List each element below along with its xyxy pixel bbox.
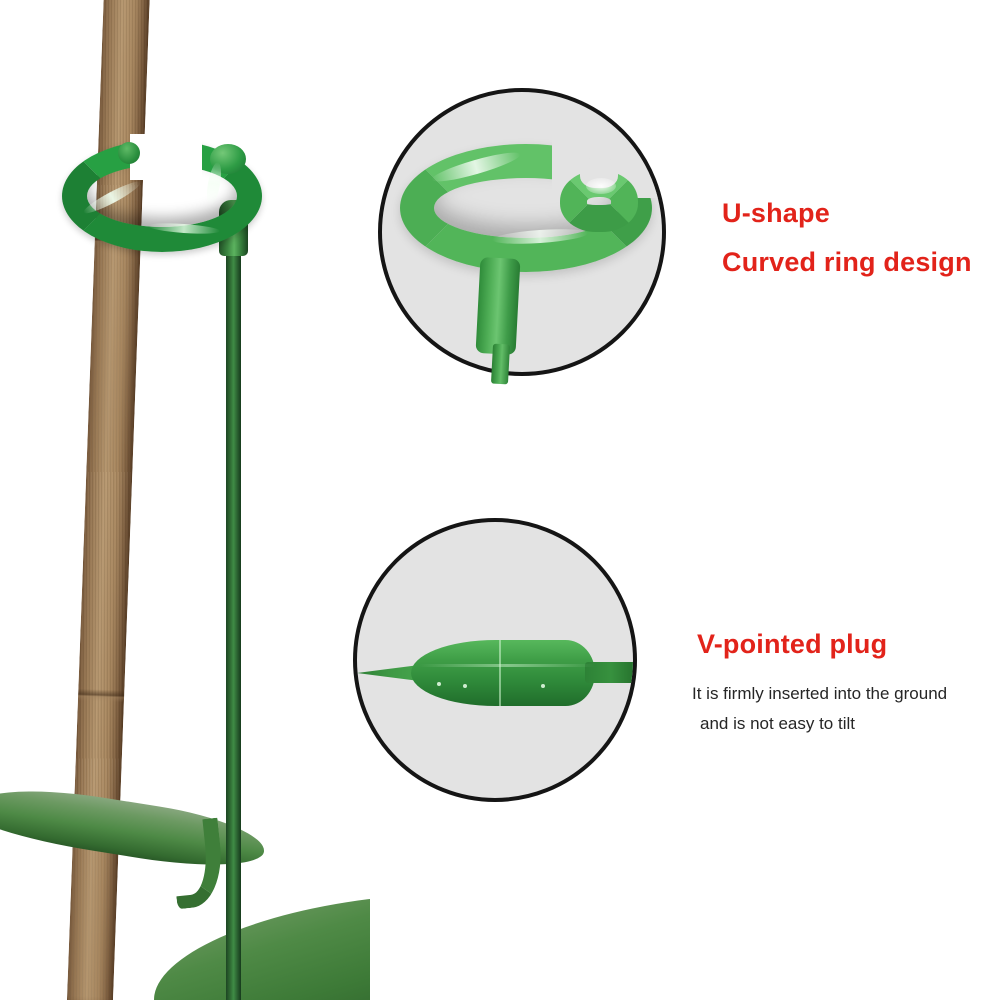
green-ring-clamp: [62, 140, 262, 252]
v-plug-description-line2: and is not easy to tilt: [700, 714, 855, 734]
v-plug-description-line1: It is firmly inserted into the ground: [692, 684, 947, 704]
u-shape-callout-circle: [378, 88, 666, 376]
u-shape-headline-line1: U-shape: [722, 198, 830, 229]
stem-node: [78, 689, 124, 703]
v-plug-headline: V-pointed plug: [697, 629, 887, 660]
infographic-page: U-shape Curved ring design V-pointed plu…: [0, 0, 1000, 1000]
plug-body: [411, 640, 595, 706]
u-ring-support-post: [476, 257, 521, 355]
plug-ridge-highlight: [419, 664, 595, 667]
v-pointed-plug-illustration: [363, 636, 635, 710]
u-ring-highlight: [586, 178, 616, 194]
u-ring-rod: [491, 344, 510, 385]
ring-opening-gap: [130, 134, 202, 180]
v-plug-callout-circle: [353, 518, 637, 802]
plug-speck: [463, 684, 467, 688]
plug-speck: [437, 682, 441, 686]
u-shape-headline-line2: Curved ring design: [722, 247, 972, 278]
product-photo: [0, 0, 370, 1000]
support-stake-rod: [226, 206, 241, 1000]
ring-end-tip-left: [118, 142, 140, 164]
u-shape-ring-illustration: [400, 144, 652, 272]
plant-leaf-tip: [169, 818, 227, 910]
plug-speck: [541, 684, 545, 688]
plug-mold-seam: [499, 640, 501, 706]
